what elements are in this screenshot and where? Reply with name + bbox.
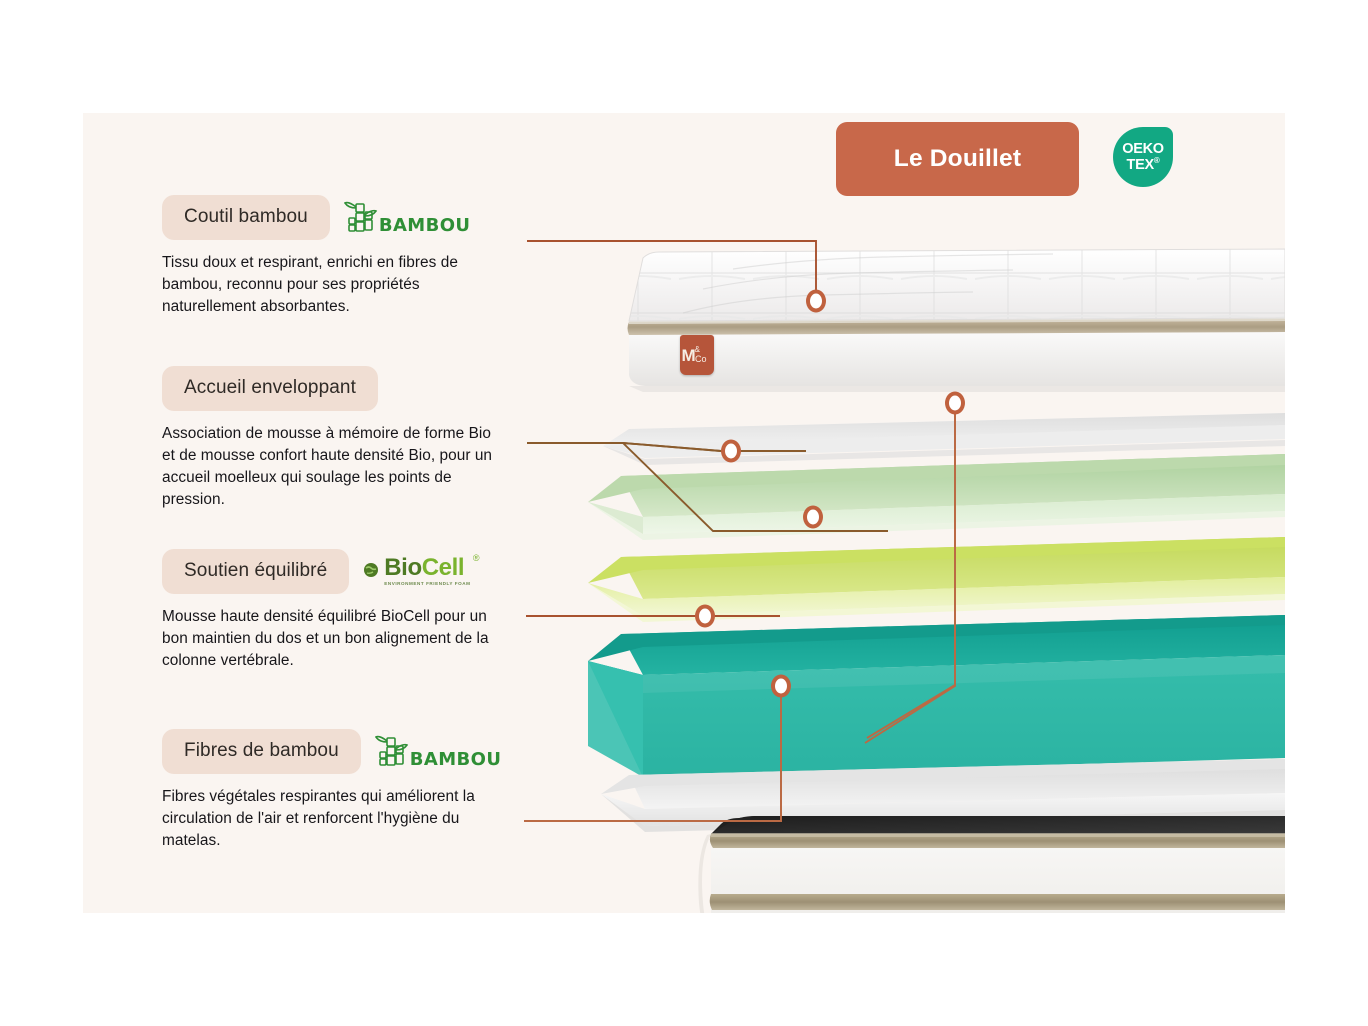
feature-block-coutil-bambou: Coutil bambou	[162, 195, 522, 318]
feature-title-soutien-equilibre: Soutien équilibré	[184, 560, 327, 581]
feature-title-accueil-enveloppant: Accueil enveloppant	[184, 377, 356, 398]
bamboo-icon	[344, 200, 378, 236]
callout-marker-biocell[interactable]	[695, 605, 715, 628]
bambou-logo: BAMBOU	[344, 200, 471, 236]
layer-memoire-de-forme-bio	[588, 454, 1285, 540]
feature-title-coutil-bambou: Coutil bambou	[184, 206, 308, 227]
bambou-logo-secondary: BAMBOU	[375, 734, 502, 770]
brand-tag-mco: M&Co	[680, 335, 714, 375]
callout-marker-accueil-white-layer[interactable]	[945, 392, 965, 415]
feature-chip-fibres-de-bambou[interactable]: Fibres de bambou	[162, 729, 361, 774]
biocell-logo-cell: Cell	[422, 554, 464, 581]
bambou-logo-secondary-text: BAMBOU	[410, 751, 502, 769]
feature-chip-coutil-bambou[interactable]: Coutil bambou	[162, 195, 330, 240]
biocell-logo-bio: Bio	[384, 554, 421, 581]
layer-biocell-support	[588, 615, 1285, 777]
globe-icon	[363, 562, 379, 578]
layer-mousse-confort-haute-densite	[588, 537, 1285, 622]
brand-tag-m: M	[681, 347, 695, 364]
bambou-logo-text: BAMBOU	[379, 217, 471, 235]
callout-marker-mousse-confort[interactable]	[803, 506, 823, 529]
feature-chip-accueil-enveloppant[interactable]: Accueil enveloppant	[162, 366, 378, 411]
feature-block-accueil-enveloppant: Accueil enveloppant Association de mouss…	[162, 366, 522, 511]
feature-chip-soutien-equilibre[interactable]: Soutien équilibré	[162, 549, 349, 594]
brand-tag-co: Co	[695, 355, 707, 364]
layer-accueil-white	[603, 413, 1285, 465]
biocell-logo: BioCell® ENVIRONMENT FRIENDLY FOAM	[363, 556, 470, 587]
infographic-canvas: Le Douillet OEKO TEX®	[0, 0, 1368, 1026]
brand-tag-amp: &	[695, 346, 700, 354]
feature-title-fibres-de-bambou: Fibres de bambou	[184, 740, 339, 761]
feature-desc-soutien-equilibre: Mousse haute densité équilibré BioCell p…	[162, 606, 507, 672]
infographic-panel: Le Douillet OEKO TEX®	[83, 113, 1285, 913]
callout-marker-fibres-de-bambou[interactable]	[771, 675, 791, 698]
callout-marker-coutil-bambou[interactable]	[806, 290, 826, 313]
bamboo-icon-secondary	[375, 734, 409, 770]
feature-desc-accueil-enveloppant: Association de mousse à mémoire de forme…	[162, 423, 507, 511]
feature-block-fibres-de-bambou: Fibres de bambou	[162, 729, 522, 852]
callout-marker-memoire-de-forme[interactable]	[721, 440, 741, 463]
feature-block-soutien-equilibre: Soutien équilibré BioCell® ENVIRONMENT F…	[162, 549, 522, 672]
biocell-logo-registered: ®	[473, 554, 480, 563]
feature-desc-fibres-de-bambou: Fibres végétales respirantes qui amélior…	[162, 786, 507, 852]
feature-desc-coutil-bambou: Tissu doux et respirant, enrichi en fibr…	[162, 252, 507, 318]
layer-mattress-base	[698, 816, 1285, 913]
biocell-logo-tagline: ENVIRONMENT FRIENDLY FOAM	[384, 582, 470, 587]
layer-coutil-bambou	[628, 249, 1286, 392]
